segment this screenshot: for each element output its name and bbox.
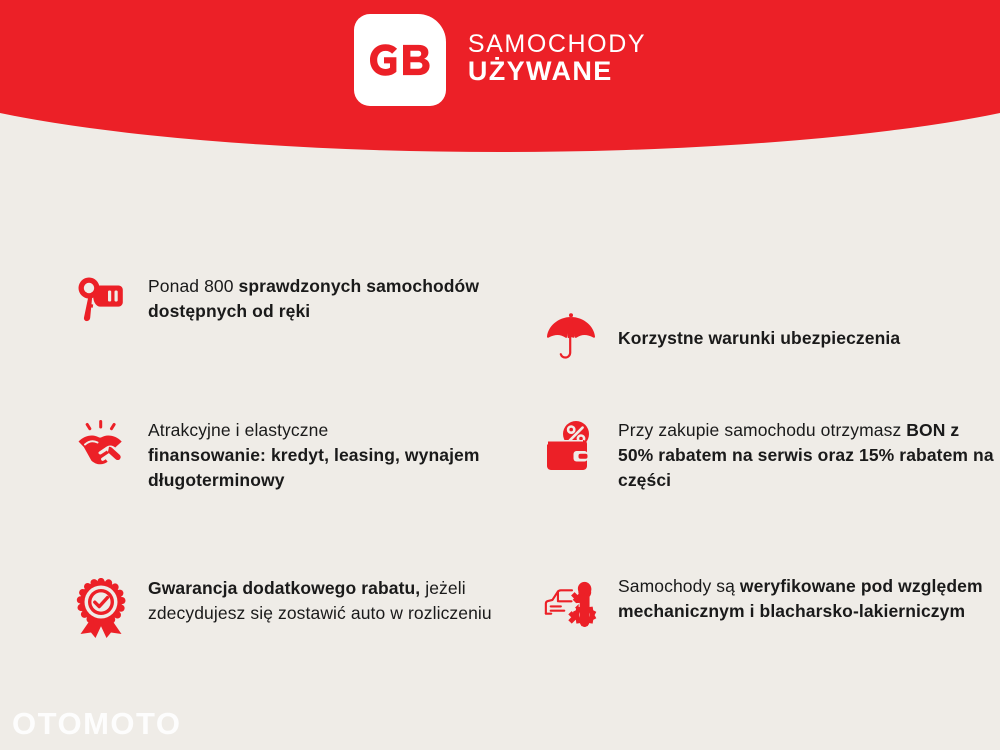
brand-title: SAMOCHODY UŻYWANE bbox=[468, 32, 646, 87]
handshake-icon bbox=[72, 416, 130, 470]
feature-text-extra-discount: Gwarancja dodatkowego rabatu, jeżeli zde… bbox=[148, 574, 528, 626]
brand-title-line1: SAMOCHODY bbox=[468, 32, 646, 58]
brand-lockup: SAMOCHODY UŻYWANE bbox=[0, 0, 1000, 120]
feature-text-cars-available: Ponad 800 sprawdzonych samochodów dostęp… bbox=[148, 272, 528, 324]
feature-item-verification: Samochody są weryfikowane pod względem m… bbox=[542, 572, 1000, 704]
feature-text-part-bold: finansowanie: kredyt, leasing, wynajem d… bbox=[148, 445, 480, 490]
feature-item-service-discount: Przy zakupie samochodu otrzymasz BON z 5… bbox=[542, 416, 1000, 546]
award-rosette-icon bbox=[72, 574, 130, 638]
feature-text-financing: Atrakcyjne i elastyczne finansowanie: kr… bbox=[148, 416, 528, 493]
feature-list: Ponad 800 sprawdzonych samochodów dostęp… bbox=[0, 272, 1000, 704]
feature-item-extra-discount: Gwarancja dodatkowego rabatu, jeżeli zde… bbox=[72, 574, 532, 704]
feature-item-cars-available: Ponad 800 sprawdzonych samochodów dostęp… bbox=[72, 272, 532, 402]
feature-text-part-regular: Ponad 800 bbox=[148, 276, 239, 296]
brand-title-line2: UŻYWANE bbox=[468, 58, 646, 86]
feature-item-insurance: Korzystne warunki ubezpieczenia bbox=[542, 272, 1000, 402]
wallet-percent-icon bbox=[542, 416, 600, 474]
feature-text-verification: Samochody są weryfikowane pod względem m… bbox=[618, 572, 998, 624]
otomoto-watermark: OTOMOTO bbox=[12, 706, 182, 742]
car-keys-icon bbox=[72, 272, 130, 324]
umbrella-icon bbox=[542, 311, 600, 363]
feature-text-part-bold: Korzystne warunki ubezpieczenia bbox=[618, 328, 900, 348]
feature-text-service-discount: Przy zakupie samochodu otrzymasz BON z 5… bbox=[618, 416, 998, 493]
header-banner: SAMOCHODY UŻYWANE bbox=[0, 0, 1000, 160]
feature-text-part-regular: Przy zakupie samochodu otrzymasz bbox=[618, 420, 906, 440]
feature-text-part-bold: Gwarancja dodatkowego rabatu, bbox=[148, 578, 420, 598]
feature-text-part-regular: Samochody są bbox=[618, 576, 740, 596]
feature-text-part-regular: Atrakcyjne i elastyczne bbox=[148, 420, 328, 440]
gb-logo-icon bbox=[354, 14, 446, 106]
feature-text-insurance: Korzystne warunki ubezpieczenia bbox=[618, 324, 900, 351]
car-service-icon bbox=[542, 572, 600, 630]
feature-item-financing: Atrakcyjne i elastyczne finansowanie: kr… bbox=[72, 416, 532, 546]
